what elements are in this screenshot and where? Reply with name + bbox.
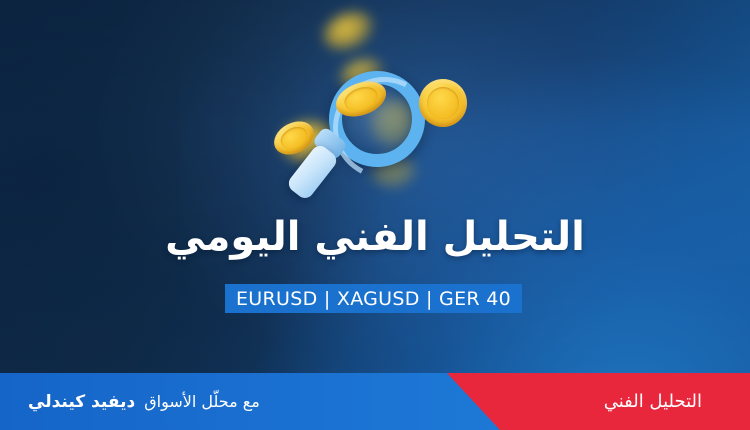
- page-title: التحليل الفني اليومي: [0, 214, 750, 260]
- section-label: التحليل الفني: [604, 373, 702, 430]
- instruments-badge: EURUSD | XAGUSD | GER 40: [225, 284, 522, 313]
- presenter-name: ديفيد كيندلي: [28, 392, 135, 412]
- presenter-credit: مع محلّل الأسواق ديفيد كيندلي: [28, 373, 260, 430]
- presenter-role: مع محلّل الأسواق: [144, 392, 260, 411]
- hero-illustration: [285, 5, 500, 205]
- coin-blurred-top: [318, 5, 380, 58]
- promo-banner: التحليل الفني اليومي EURUSD | XAGUSD | G…: [0, 0, 750, 430]
- instruments-badge-label: EURUSD | XAGUSD | GER 40: [236, 288, 511, 310]
